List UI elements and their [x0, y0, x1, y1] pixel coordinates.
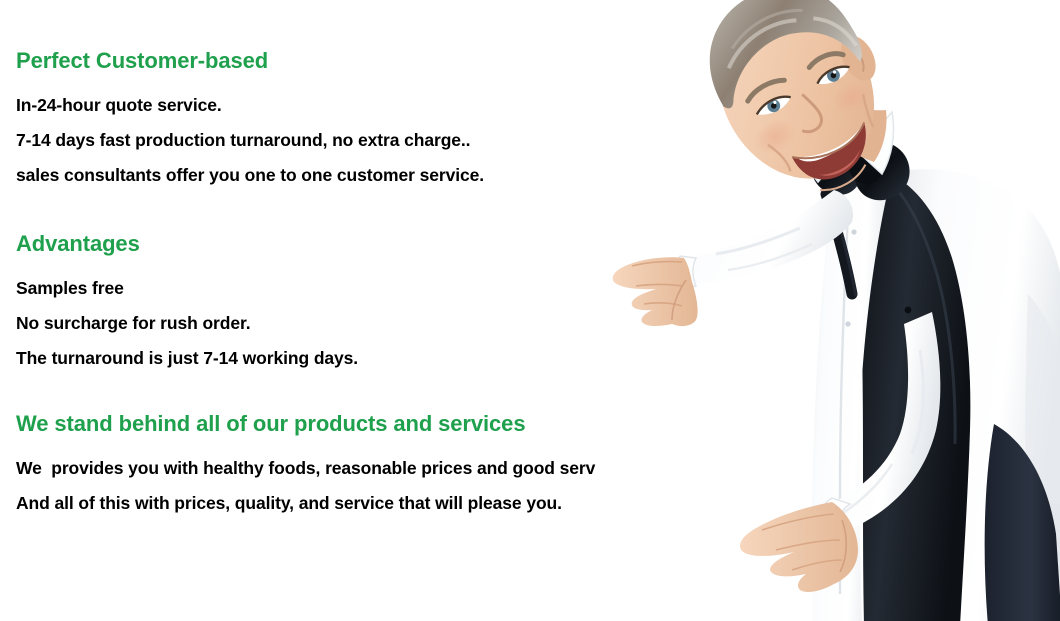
- promotional-banner: Perfect Customer-based In-24-hour quote …: [0, 0, 1060, 621]
- businessman-photo: [596, 0, 1060, 621]
